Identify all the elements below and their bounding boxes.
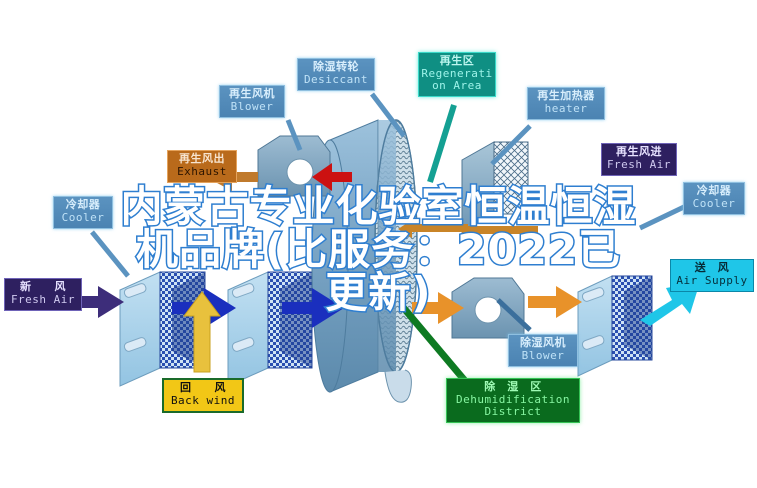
label-dehumidification-district: 除 湿 区 Dehumidification District <box>446 378 580 423</box>
diagram-canvas: 除湿转轮 Desiccant 再生风机 Blower 再生区 Regenerat… <box>0 0 757 488</box>
label-regen-air-out-en: Exhaust <box>170 166 234 178</box>
label-regen-heater-en: heater <box>530 103 602 115</box>
label-regeneration-area-en: Regenerati <box>421 68 493 80</box>
overlay-title-line-2: 机品牌(比服务：2022已 <box>0 229 757 272</box>
label-regeneration-area-en2: on Area <box>421 80 493 92</box>
label-regen-blower-en: Blower <box>222 101 282 113</box>
label-dehumidification-district-en2: District <box>449 406 577 418</box>
label-back-wind: 回 风 Back wind <box>162 378 244 413</box>
label-regen-heater: 再生加热器 heater <box>527 87 605 120</box>
label-regen-air-out: 再生风出 Exhaust <box>167 150 237 183</box>
label-dehumidification-district-en: Dehumidification <box>449 394 577 406</box>
label-regen-air-in-en: Fresh Air <box>604 159 674 171</box>
label-back-wind-en: Back wind <box>166 395 240 407</box>
overlay-title-line-1: 内蒙古专业化验室恒温恒湿 <box>0 186 757 229</box>
overlay-title: 内蒙古专业化验室恒温恒湿 机品牌(比服务：2022已 更新) <box>0 186 757 314</box>
label-dehumid-blower-en: Blower <box>511 350 575 362</box>
label-regen-air-in: 再生风进 Fresh Air <box>601 143 677 176</box>
overlay-title-line-3: 更新) <box>0 272 757 315</box>
label-desiccant-rotor: 除湿转轮 Desiccant <box>297 58 375 91</box>
label-desiccant-rotor-en: Desiccant <box>300 74 372 86</box>
label-regeneration-area: 再生区 Regenerati on Area <box>418 52 496 97</box>
label-dehumid-blower: 除湿风机 Blower <box>508 334 578 367</box>
label-regen-blower: 再生风机 Blower <box>219 85 285 118</box>
